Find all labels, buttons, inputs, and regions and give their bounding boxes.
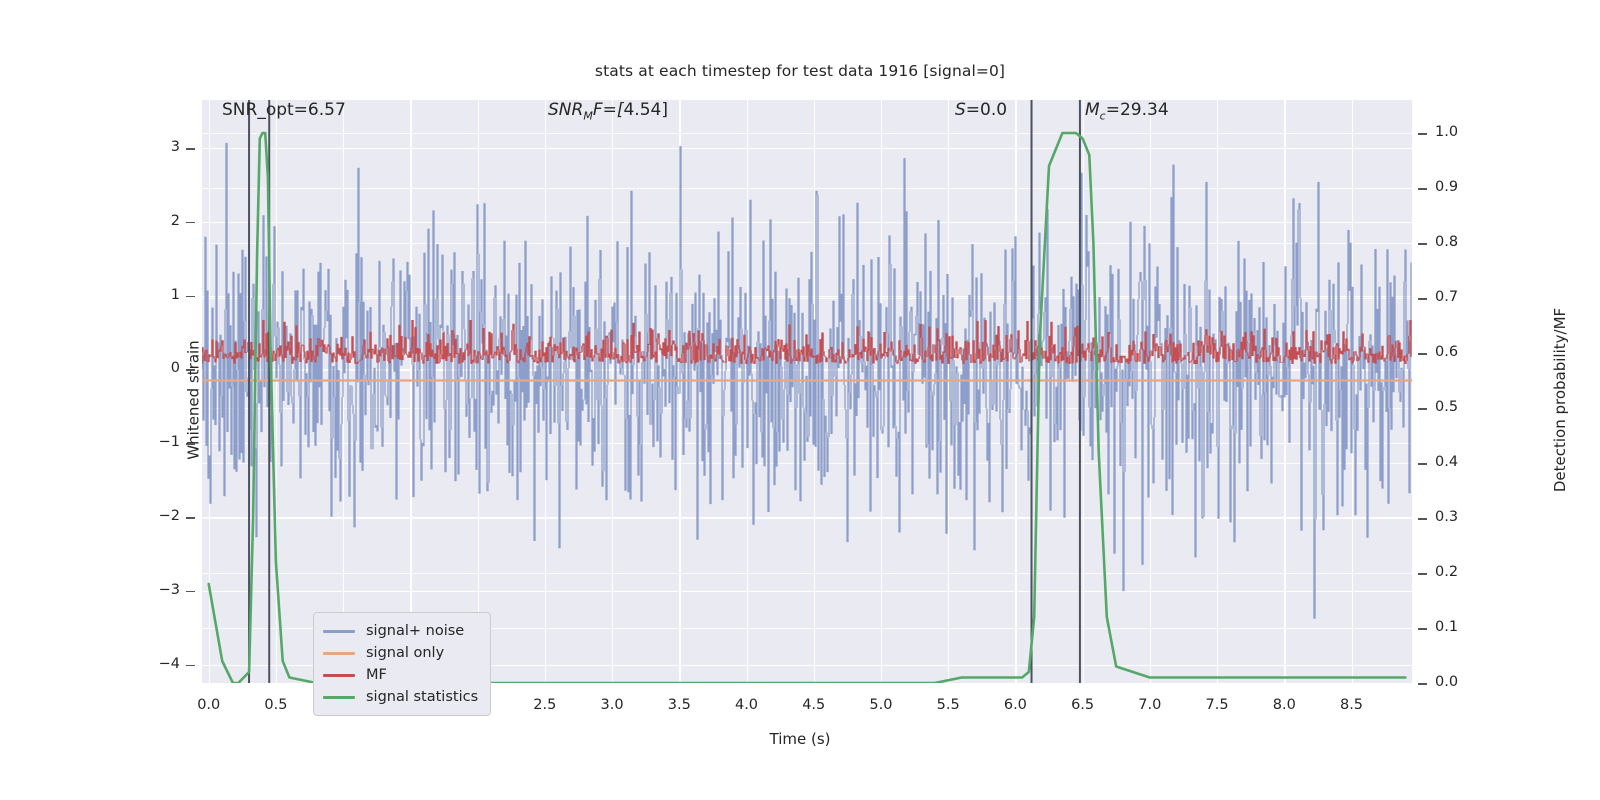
y-axis-label-left: Whitened strain (185, 340, 203, 459)
y-tick-mark-right (1418, 353, 1427, 355)
annotation-snr-mf-mid: F=[ (593, 100, 624, 120)
x-tick-label: 2.5 (531, 697, 559, 713)
x-tick-label: 8.5 (1338, 697, 1366, 713)
x-tick-label: 7.0 (1136, 697, 1164, 713)
x-tick-label: 8.0 (1270, 697, 1298, 713)
y-tick-label-left: 3 (150, 139, 180, 155)
plot-area (202, 100, 1412, 683)
series-layer (202, 100, 1412, 683)
annotation-snr-mf-suffix: ] (661, 100, 668, 120)
y-tick-mark-right (1418, 683, 1427, 685)
x-tick-label: 4.0 (733, 697, 761, 713)
legend[interactable]: signal+ noisesignal onlyMFsignal statist… (313, 612, 491, 716)
y-tick-mark-left (186, 591, 195, 593)
y-tick-mark-right (1418, 243, 1427, 245)
legend-swatch-icon (323, 630, 355, 633)
y-tick-mark-left (186, 665, 195, 667)
annotation-snr-mf: SNRMF=[4.54] (548, 100, 668, 122)
x-tick-label: 5.5 (934, 697, 962, 713)
x-tick-label: 0.5 (262, 697, 290, 713)
y-tick-label-left: −4 (150, 656, 180, 672)
y-tick-label-right: 0.3 (1435, 509, 1458, 525)
annotation-mc-mid: = (1106, 100, 1120, 120)
annotation-snr-opt: SNR_opt=6.57 (222, 100, 346, 120)
y-tick-mark-left (186, 296, 195, 298)
annotation-snr-mf-value: 4.54 (623, 100, 661, 120)
y-tick-label-right: 0.8 (1435, 234, 1458, 250)
x-tick-label: 4.5 (800, 697, 828, 713)
annotation-mc-value: 29.34 (1120, 100, 1169, 120)
y-axis-label-right: Detection probability/MF (1551, 308, 1569, 492)
y-tick-label-right: 0.6 (1435, 344, 1458, 360)
x-tick-label: 7.5 (1203, 697, 1231, 713)
legend-item-1[interactable]: signal only (323, 642, 478, 664)
annotation-snr-opt-value: 6.57 (308, 100, 346, 120)
y-tick-label-left: −2 (150, 508, 180, 524)
x-tick-label: 0.0 (195, 697, 223, 713)
x-tick-label: 6.5 (1069, 697, 1097, 713)
legend-label: signal statistics (366, 689, 478, 705)
y-tick-label-right: 0.7 (1435, 289, 1458, 305)
legend-item-3[interactable]: signal statistics (323, 686, 478, 708)
figure-canvas: stats at each timestep for test data 191… (0, 0, 1600, 800)
series-svg (202, 100, 1412, 683)
y-tick-label-left: 0 (150, 360, 180, 376)
y-tick-label-left: 1 (150, 287, 180, 303)
y-tick-mark-right (1418, 408, 1427, 410)
legend-swatch-icon (323, 674, 355, 677)
y-tick-mark-right (1418, 188, 1427, 190)
x-tick-label: 3.0 (598, 697, 626, 713)
y-tick-label-right: 0.9 (1435, 179, 1458, 195)
annotation-snr-mf-prefix: SNR (548, 100, 583, 120)
y-tick-mark-right (1418, 133, 1427, 135)
annotation-mc: Mc=29.34 (1085, 100, 1169, 122)
annotation-mc-prefix: M (1085, 100, 1100, 120)
y-tick-mark-left (186, 148, 195, 150)
y-tick-mark-right (1418, 463, 1427, 465)
y-tick-label-right: 0.4 (1435, 454, 1458, 470)
y-tick-mark-right (1418, 298, 1427, 300)
y-tick-label-right: 0.0 (1435, 674, 1458, 690)
legend-swatch-icon (323, 696, 355, 699)
annotation-s-stat-prefix: S (955, 100, 966, 120)
y-tick-mark-right (1418, 628, 1427, 630)
y-tick-mark-right (1418, 573, 1427, 575)
legend-label: MF (366, 667, 387, 683)
y-tick-label-right: 0.1 (1435, 619, 1458, 635)
x-tick-label: 5.0 (867, 697, 895, 713)
y-tick-label-left: 2 (150, 213, 180, 229)
y-tick-mark-left (186, 517, 195, 519)
page-title: stats at each timestep for test data 191… (0, 62, 1600, 80)
legend-swatch-icon (323, 652, 355, 655)
x-axis-label: Time (s) (0, 730, 1600, 748)
y-tick-label-right: 0.5 (1435, 399, 1458, 415)
y-tick-mark-left (186, 369, 195, 371)
legend-item-2[interactable]: MF (323, 664, 478, 686)
annotation-snr-opt-prefix: SNR_opt= (222, 100, 308, 120)
legend-label: signal only (366, 645, 444, 661)
x-tick-label: 3.5 (665, 697, 693, 713)
annotation-s-stat-mid: = (966, 100, 980, 120)
annotation-s-stat-value: 0.0 (980, 100, 1007, 120)
y-tick-label-left: −1 (150, 434, 180, 450)
legend-item-0[interactable]: signal+ noise (323, 620, 478, 642)
annotation-s-stat: S=0.0 (955, 100, 1007, 120)
legend-label: signal+ noise (366, 623, 464, 639)
y-tick-mark-left (186, 443, 195, 445)
y-tick-mark-right (1418, 518, 1427, 520)
y-tick-label-right: 0.2 (1435, 564, 1458, 580)
x-tick-label: 6.0 (1001, 697, 1029, 713)
annotation-snr-mf-sub: M (583, 109, 593, 122)
y-tick-label-left: −3 (150, 582, 180, 598)
y-tick-label-right: 1.0 (1435, 124, 1458, 140)
y-tick-mark-left (186, 222, 195, 224)
